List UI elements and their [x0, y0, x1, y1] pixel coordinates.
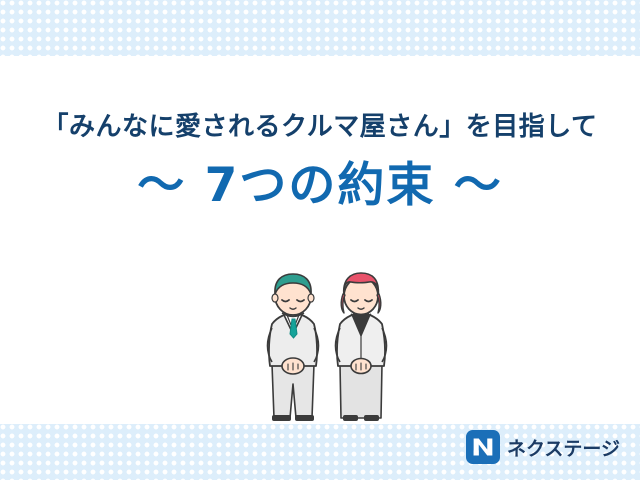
male-staff-bowing — [268, 274, 319, 421]
brand-logo-text: ネクステージ — [507, 434, 620, 461]
female-staff-bowing — [336, 273, 387, 421]
dot-pattern-top — [0, 0, 640, 56]
nexstage-n-mark-icon — [466, 430, 500, 464]
slide-canvas: 「みんなに愛されるクルマ屋さん」を目指して 〜 7つの約束 〜 — [0, 0, 640, 480]
brand-logo: ネクステージ — [466, 430, 620, 464]
two-bowing-staff-illustration — [236, 272, 416, 424]
